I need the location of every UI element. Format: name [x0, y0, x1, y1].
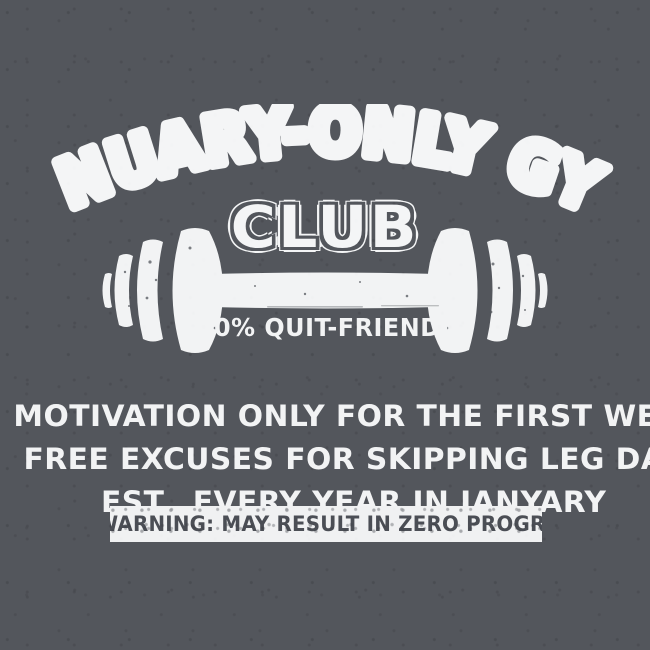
tagline: 100% QUIT-FRIENDLY	[0, 313, 650, 342]
barbell-bar	[210, 273, 441, 309]
tshirt-design-canvas: JANUARY-ONLY GYM JANUARY-ONLY GYM JANUAR…	[0, 0, 650, 650]
body-line-text: FREE EXCUSES FOR SKIPPING LEG DAY	[24, 441, 650, 477]
barbell-plate-right-4	[538, 273, 548, 308]
body-line-text: MOTIVATION ONLY FOR THE FIRST WEEKS	[13, 398, 650, 434]
body-lines: MOTIVATION ONLY FOR THE FIRST WEEKS FREE…	[0, 362, 650, 491]
warning-text: WARNING: MAY RESULT IN ZERO PROGRESS	[110, 512, 542, 536]
tagline-text: 100% QUIT-FRIENDLY	[180, 313, 470, 342]
body-line: MOTIVATION ONLY FOR THE FIRST WEEKS	[0, 362, 650, 405]
warning-bar: WARNING: MAY RESULT IN ZERO PROGRESS	[110, 506, 542, 542]
barbell-plate-left-4	[103, 273, 113, 308]
